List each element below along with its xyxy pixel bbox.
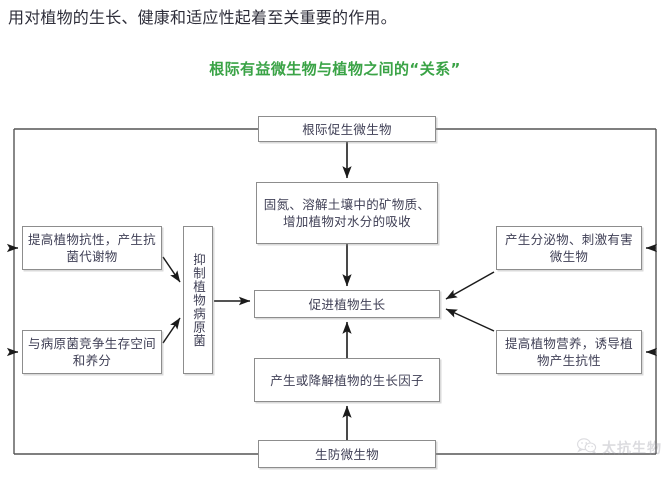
node-pgpr: 根际促生微生物: [258, 116, 436, 142]
node-promote-plant-growth: 促进植物生长: [254, 290, 440, 318]
node-inhibit-plant-pathogen: 抑制植物病原菌: [183, 226, 213, 374]
node-biocontrol-microbes: 生防微生物: [258, 440, 436, 468]
watermark: 太抗生物: [577, 438, 662, 458]
node-plant-resistance: 提高植物抗性，产生抗菌代谢物: [22, 226, 162, 270]
node-compete-with-pathogens: 与病原菌竞争生存空间和养分: [22, 330, 162, 374]
wechat-icon: [577, 438, 597, 458]
relationship-flow-diagram: 根际促生微生物 固氮、溶解土壤中的矿物质、增加植物对水分的吸收 促进植物生长 产…: [0, 100, 670, 489]
watermark-text: 太抗生物: [602, 438, 662, 458]
node-secretion-stimulation: 产生分泌物、刺激有害微生物: [496, 226, 642, 270]
node-growth-factors: 产生或降解植物的生长因子: [254, 358, 440, 402]
node-nitrogen-fixation: 固氮、溶解土壤中的矿物质、增加植物对水分的吸收: [256, 182, 438, 244]
node-plant-nutrition: 提高植物营养，诱导植物产生抗性: [496, 330, 642, 374]
intro-paragraph: 用对植物的生长、健康和适应性起着至关重要的作用。: [8, 6, 658, 30]
figure-title: 根际有益微生物与植物之间的“关系”: [0, 58, 670, 79]
